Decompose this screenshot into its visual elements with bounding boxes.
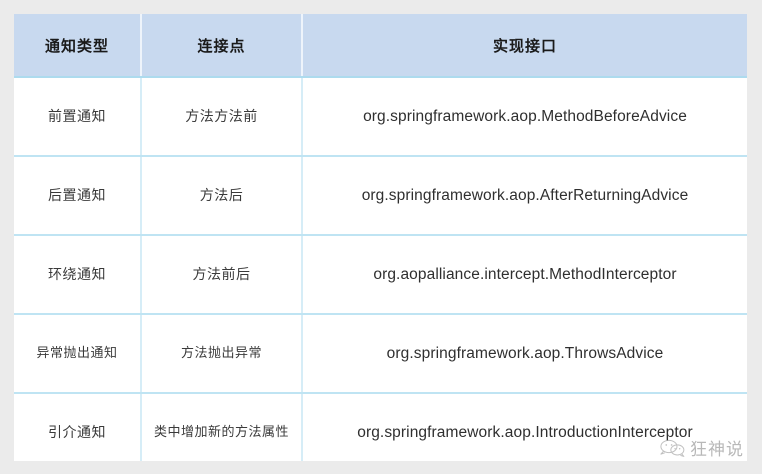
- aop-advice-table: 通知类型 连接点 实现接口 前置通知 方法方法前 org.springframe…: [14, 14, 747, 461]
- table-row: 前置通知 方法方法前 org.springframework.aop.Metho…: [14, 77, 747, 156]
- cell-joinpoint: 方法方法前: [141, 77, 302, 156]
- cell-advice-type: 引介通知: [14, 393, 141, 461]
- cell-joinpoint: 类中增加新的方法属性: [141, 393, 302, 461]
- cell-advice-type: 后置通知: [14, 156, 141, 235]
- cell-advice-type: 前置通知: [14, 77, 141, 156]
- table-header-row: 通知类型 连接点 实现接口: [14, 14, 747, 77]
- aop-advice-table-container: 通知类型 连接点 实现接口 前置通知 方法方法前 org.springframe…: [14, 14, 747, 461]
- cell-advice-type: 环绕通知: [14, 235, 141, 314]
- cell-interface: org.springframework.aop.AfterReturningAd…: [302, 156, 747, 235]
- table-body: 前置通知 方法方法前 org.springframework.aop.Metho…: [14, 77, 747, 461]
- table-row: 后置通知 方法后 org.springframework.aop.AfterRe…: [14, 156, 747, 235]
- table-row: 引介通知 类中增加新的方法属性 org.springframework.aop.…: [14, 393, 747, 461]
- cell-advice-type: 异常抛出通知: [14, 314, 141, 393]
- cell-joinpoint: 方法抛出异常: [141, 314, 302, 393]
- table-header: 通知类型 连接点 实现接口: [14, 14, 747, 77]
- cell-interface: org.aopalliance.intercept.MethodIntercep…: [302, 235, 747, 314]
- cell-joinpoint: 方法后: [141, 156, 302, 235]
- table-row: 异常抛出通知 方法抛出异常 org.springframework.aop.Th…: [14, 314, 747, 393]
- column-header-interface: 实现接口: [302, 14, 747, 77]
- cell-interface: org.springframework.aop.IntroductionInte…: [302, 393, 747, 461]
- page-root: 通知类型 连接点 实现接口 前置通知 方法方法前 org.springframe…: [0, 0, 762, 474]
- table-row: 环绕通知 方法前后 org.aopalliance.intercept.Meth…: [14, 235, 747, 314]
- cell-interface: org.springframework.aop.MethodBeforeAdvi…: [302, 77, 747, 156]
- column-header-advice-type: 通知类型: [14, 14, 141, 77]
- cell-joinpoint: 方法前后: [141, 235, 302, 314]
- column-header-joinpoint: 连接点: [141, 14, 302, 77]
- cell-interface: org.springframework.aop.ThrowsAdvice: [302, 314, 747, 393]
